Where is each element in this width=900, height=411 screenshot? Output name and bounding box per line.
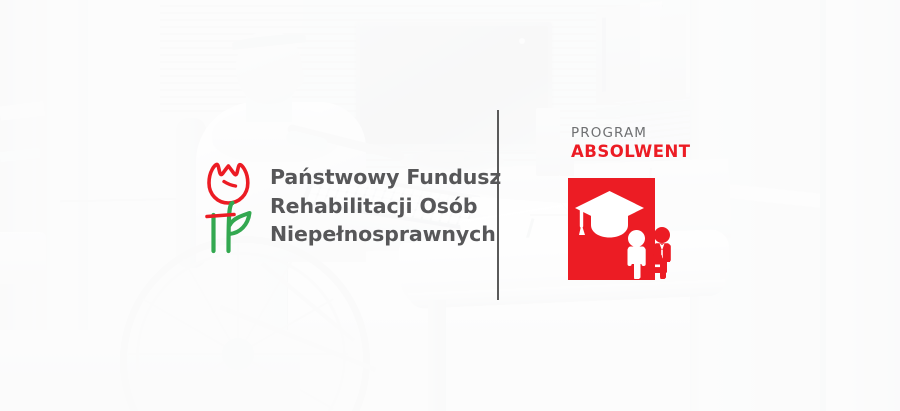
program-absolwent-lockup: PROGRAM ABSOLWENT (571, 126, 691, 161)
pfron-line-1: Państwowy Fundusz (270, 163, 501, 192)
pfron-wordmark: Państwowy Fundusz Rehabilitacji Osób Nie… (270, 163, 501, 249)
pfron-line-3: Niepełnosprawnych (270, 220, 501, 249)
pfron-absolwent-banner: Państwowy Fundusz Rehabilitacji Osób Nie… (0, 0, 900, 411)
program-name: ABSOLWENT (571, 142, 691, 161)
program-kicker: PROGRAM (571, 126, 691, 142)
tulip-mark-icon (200, 158, 256, 254)
absolwent-graduate-icon (568, 178, 672, 280)
pfron-logo: Państwowy Fundusz Rehabilitacji Osób Nie… (200, 158, 501, 254)
pfron-line-2: Rehabilitacji Osób (270, 192, 501, 221)
